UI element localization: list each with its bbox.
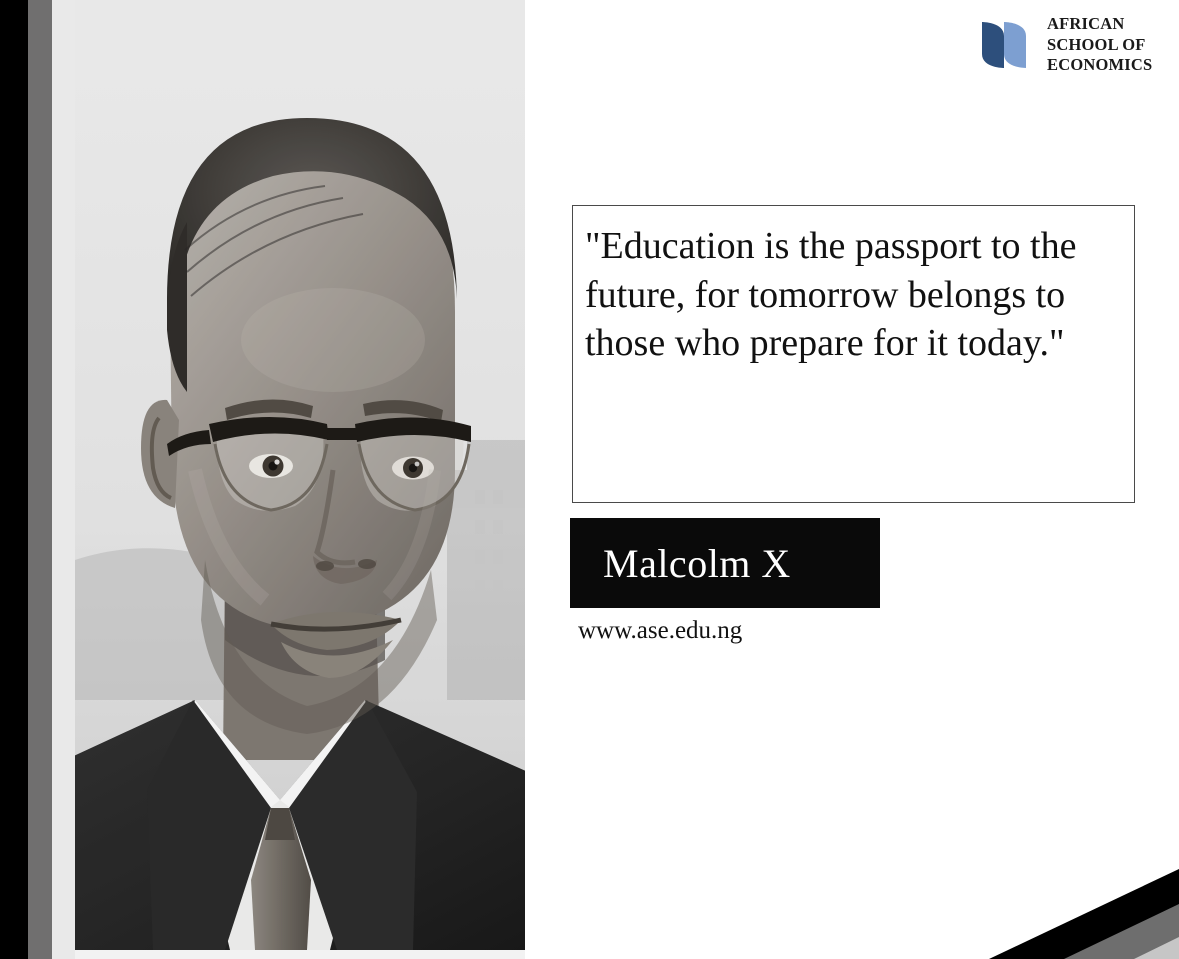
- stripe-gray: [1064, 904, 1179, 959]
- website-url: www.ase.edu.ng: [578, 617, 742, 645]
- author-name: Malcolm X: [603, 540, 791, 587]
- left-black-bar: [0, 0, 28, 959]
- ase-logo-text: AFRICAN SCHOOL OF ECONOMICS: [1047, 14, 1152, 75]
- logo-line-3: ECONOMICS: [1047, 55, 1152, 75]
- portrait-photo: [75, 0, 525, 950]
- corner-stripes-decoration: [819, 759, 1179, 959]
- stripe-black: [989, 869, 1179, 959]
- logo-line-1: AFRICAN: [1047, 14, 1152, 34]
- logo-line-2: SCHOOL OF: [1047, 35, 1152, 55]
- quote-card: AFRICAN SCHOOL OF ECONOMICS "Education i…: [0, 0, 1179, 959]
- author-name-box: Malcolm X: [570, 518, 880, 608]
- photo-bottom-strip: [75, 950, 525, 959]
- quote-box: "Education is the passport to the future…: [572, 205, 1135, 503]
- ase-logo-mark-icon: [973, 14, 1035, 76]
- left-gray-bar: [28, 0, 52, 959]
- ase-logo: AFRICAN SCHOOL OF ECONOMICS: [973, 14, 1152, 76]
- stripe-light: [1134, 937, 1179, 959]
- quote-text: "Education is the passport to the future…: [585, 222, 1134, 368]
- left-light-bar: [52, 0, 75, 959]
